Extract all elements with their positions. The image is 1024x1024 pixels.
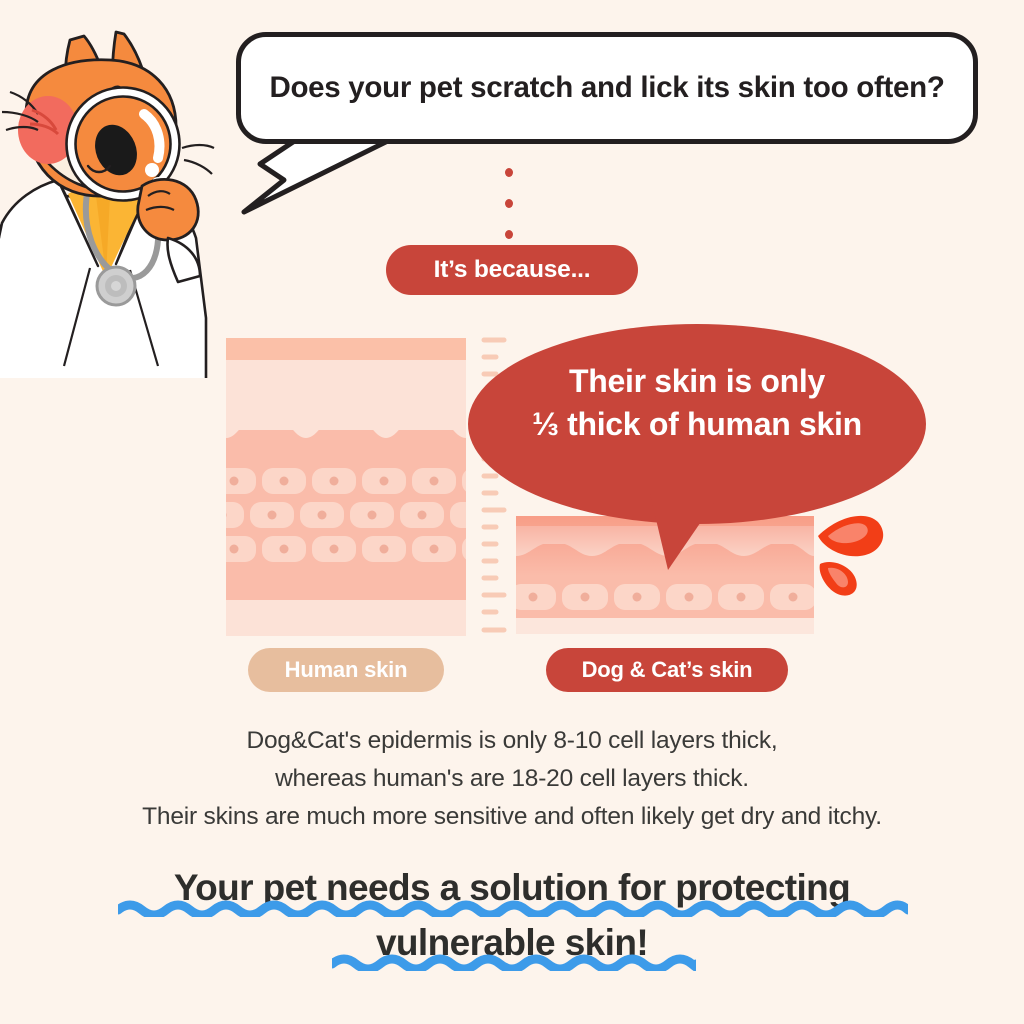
its-because-label: It’s because... (434, 256, 591, 284)
paragraph-line-2: whereas human's are 18-20 cell layers th… (0, 760, 1024, 798)
paragraph-line-1: Dog&Cat's epidermis is only 8-10 cell la… (0, 722, 1024, 760)
human-skin-label-text: Human skin (285, 657, 408, 683)
vertical-dots-icon (505, 168, 519, 240)
its-because-badge: It’s because... (386, 245, 638, 295)
wavy-underline-icon (118, 899, 908, 917)
infographic-canvas: Does your pet scratch and lick its skin … (0, 0, 1024, 1024)
question-speech-bubble: Does your pet scratch and lick its skin … (236, 32, 978, 144)
explanation-paragraph: Dog&Cat's epidermis is only 8-10 cell la… (0, 722, 1024, 836)
human-skin-diagram (226, 338, 466, 636)
paragraph-line-3: Their skins are much more sensitive and … (0, 798, 1024, 836)
ellipse-callout-icon (468, 324, 926, 572)
wavy-underline-icon-2 (332, 953, 696, 971)
human-skin-label-badge: Human skin (248, 648, 444, 692)
cat-doctor-with-magnifier-icon (0, 18, 232, 378)
question-text: Does your pet scratch and lick its skin … (269, 71, 944, 105)
pet-skin-label-text: Dog & Cat’s skin (582, 657, 753, 683)
pet-skin-label-badge: Dog & Cat’s skin (546, 648, 788, 692)
